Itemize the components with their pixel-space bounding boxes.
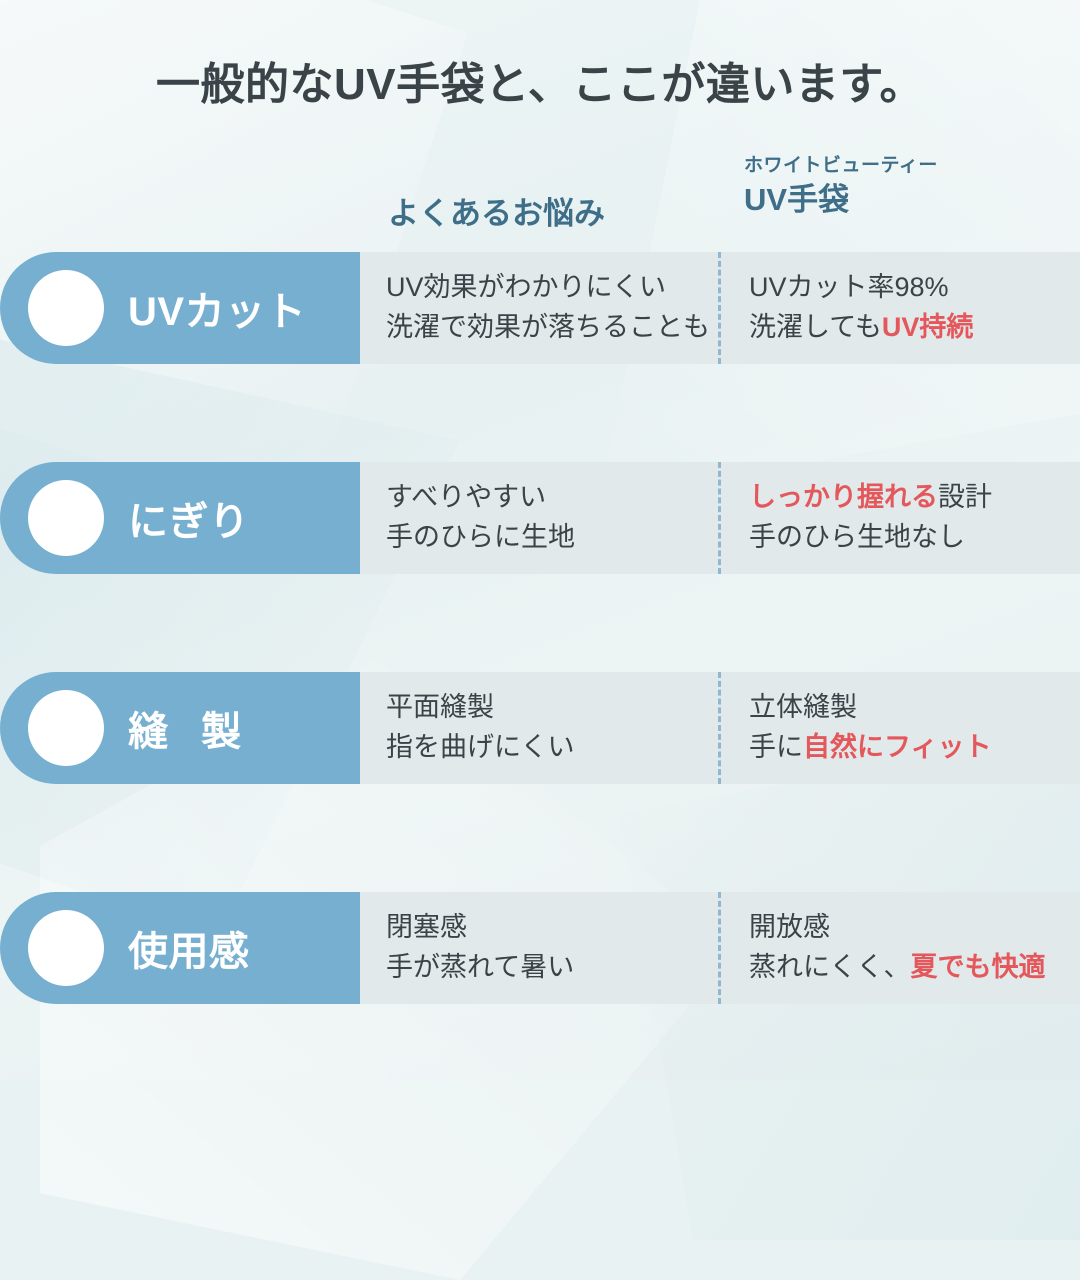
cell-product-feature: 立体縫製 手に自然にフィット	[718, 672, 1080, 784]
category-label: にぎり	[128, 489, 250, 547]
comparison-cells: 閉塞感 手が蒸れて暑い 開放感 蒸れにくく、夏でも快適	[360, 892, 1080, 1004]
cell-line: 手のひら生地なし	[749, 518, 1080, 558]
comparison-row: 使用感 閉塞感 手が蒸れて暑い 開放感 蒸れにくく、夏でも快適	[0, 892, 1080, 1004]
cell-line: 平面縫製	[386, 688, 718, 728]
circle-bullet-icon	[28, 480, 104, 556]
cell-common-problem: UV効果がわかりにくい 洗濯で効果が落ちることも	[360, 252, 718, 364]
comparison-cells: 平面縫製 指を曲げにくい 立体縫製 手に自然にフィット	[360, 672, 1080, 784]
circle-bullet-icon	[28, 270, 104, 346]
column-header-common-problems: よくあるお悩み	[388, 188, 605, 233]
column-header-product: ホワイトビューティー UV手袋	[744, 154, 938, 220]
comparison-row: 縫 製 平面縫製 指を曲げにくい 立体縫製 手に自然にフィット	[0, 672, 1080, 784]
cell-line: 指を曲げにくい	[386, 728, 718, 768]
category-pill: 使用感	[0, 892, 360, 1004]
cell-line: UVカット率98%	[749, 268, 1080, 308]
cell-line: 開放感	[749, 908, 1080, 948]
category-pill: 縫 製	[0, 672, 360, 784]
cell-product-feature: しっかり握れる設計 手のひら生地なし	[718, 462, 1080, 574]
cell-line: 洗濯してもUV持続	[749, 308, 1080, 348]
cell-line: 洗濯で効果が落ちることも	[386, 308, 718, 348]
column-header-product-brand: ホワイトビューティー	[744, 154, 938, 178]
column-header-product-name: UV手袋	[744, 181, 938, 220]
cell-line: 手が蒸れて暑い	[386, 948, 718, 988]
comparison-infographic: 一般的なUV手袋と、ここが違います。 よくあるお悩み ホワイトビューティー UV…	[0, 0, 1080, 1080]
category-pill: にぎり	[0, 462, 360, 574]
comparison-cells: UV効果がわかりにくい 洗濯で効果が落ちることも UVカット率98% 洗濯しても…	[360, 252, 1080, 364]
cell-line: UV効果がわかりにくい	[386, 268, 718, 308]
cell-common-problem: すべりやすい 手のひらに生地	[360, 462, 718, 574]
comparison-row: UVカット UV効果がわかりにくい 洗濯で効果が落ちることも UVカット率98%…	[0, 252, 1080, 364]
category-label: UVカット	[128, 279, 306, 337]
cell-line: 立体縫製	[749, 688, 1080, 728]
cell-line: 閉塞感	[386, 908, 718, 948]
cell-line: 蒸れにくく、夏でも快適	[749, 948, 1080, 988]
circle-bullet-icon	[28, 690, 104, 766]
category-pill: UVカット	[0, 252, 360, 364]
cell-common-problem: 平面縫製 指を曲げにくい	[360, 672, 718, 784]
cell-line: すべりやすい	[386, 478, 718, 518]
category-label: 使用感	[128, 919, 250, 977]
comparison-cells: すべりやすい 手のひらに生地 しっかり握れる設計 手のひら生地なし	[360, 462, 1080, 574]
cell-common-problem: 閉塞感 手が蒸れて暑い	[360, 892, 718, 1004]
cell-line: 手のひらに生地	[386, 518, 718, 558]
cell-line: 手に自然にフィット	[749, 728, 1080, 768]
circle-bullet-icon	[28, 910, 104, 986]
page-title: 一般的なUV手袋と、ここが違います。	[0, 48, 1080, 112]
cell-product-feature: UVカット率98% 洗濯してもUV持続	[718, 252, 1080, 364]
cell-product-feature: 開放感 蒸れにくく、夏でも快適	[718, 892, 1080, 1004]
category-label: 縫 製	[128, 699, 252, 757]
cell-line: しっかり握れる設計	[749, 478, 1080, 518]
comparison-row: にぎり すべりやすい 手のひらに生地 しっかり握れる設計 手のひら生地なし	[0, 462, 1080, 574]
